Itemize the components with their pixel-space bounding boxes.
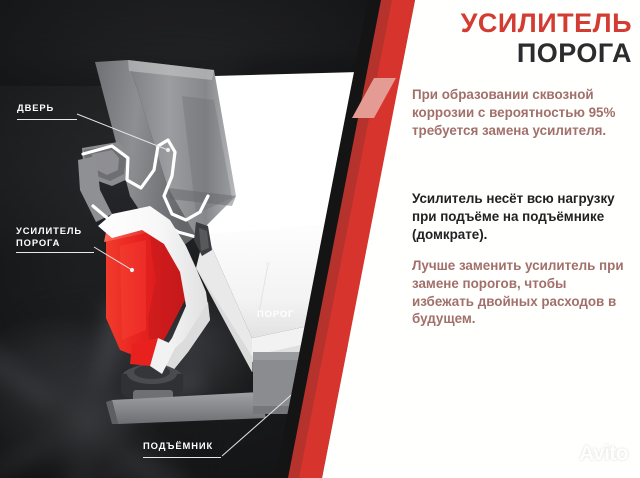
callout-rule-sill-reinforcement	[16, 252, 94, 253]
callout-label-lift: ПОДЪЁМНИК	[143, 440, 213, 452]
callout-rule-lift	[143, 457, 221, 458]
page-title: УСИЛИТЕЛЬ ПОРОГА	[414, 8, 632, 68]
callout-label-sill: ПОРОГ	[257, 308, 294, 320]
paragraph-load-note: Усилитель несёт всю нагрузку при подъёме…	[412, 190, 628, 243]
callout-label-sill-reinforcement: УСИЛИТЕЛЬ ПОРОГА	[16, 225, 82, 249]
callout-rule-door	[17, 119, 77, 120]
infographic-canvas: ДВЕРЬ УСИЛИТЕЛЬ ПОРОГА ПОРОГ ПОДЪЁМНИК У…	[0, 0, 640, 478]
avito-wordmark: Avito	[579, 442, 628, 466]
avito-watermark: Avito	[552, 442, 628, 466]
callout-rule-sill	[256, 324, 304, 325]
callout-label-door: ДВЕРЬ	[17, 102, 54, 114]
paragraph-advice-note: Лучше заменить усилитель при замене поро…	[412, 257, 628, 328]
avito-logo-icon	[552, 443, 575, 466]
title-line-secondary: ПОРОГА	[414, 38, 632, 68]
paragraph-corrosion-note: При образовании сквозной коррозии с веро…	[412, 86, 628, 139]
title-line-primary: УСИЛИТЕЛЬ	[414, 8, 632, 38]
